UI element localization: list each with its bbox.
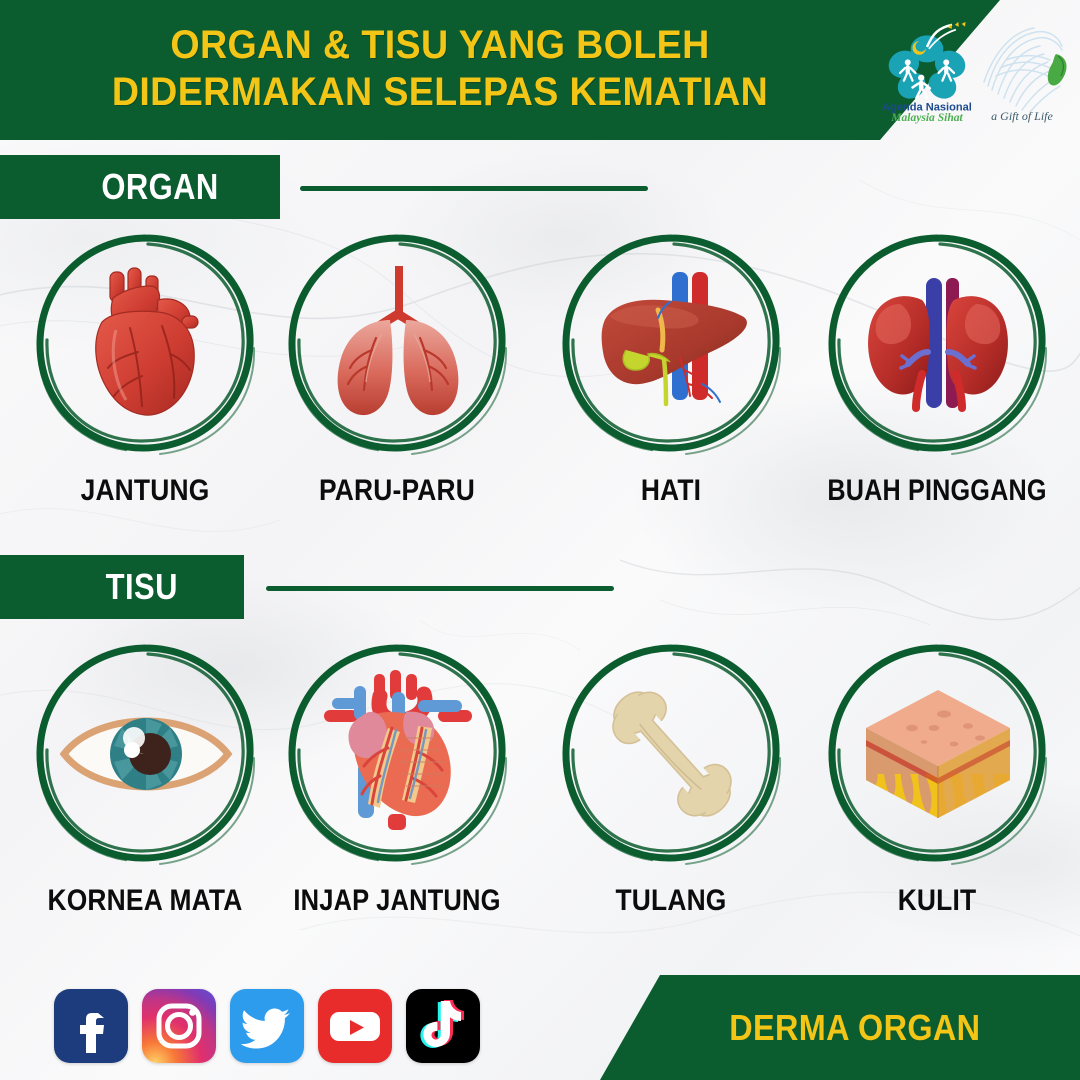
svg-text:Malaysia Sihat: Malaysia Sihat: [890, 112, 963, 124]
organ-grid: JANTUNG: [0, 228, 1080, 528]
footer: DERMA ORGAN: [0, 975, 1080, 1080]
bone-icon: [584, 666, 760, 842]
grid-item-kulit[interactable]: KULIT: [812, 638, 1062, 938]
footer-banner-label: DERMA ORGAN: [699, 1007, 981, 1049]
lungs-organ-icon: [310, 256, 486, 432]
logo-group: Agenda Nasional Malaysia Sihat: [874, 14, 1074, 130]
grid-item-label: BUAH PINGGANG: [817, 474, 1057, 508]
header: ORGAN & TISU YANG BOLEH DIDERMAKAN SELEP…: [0, 0, 1080, 140]
section-label-organ: ORGAN: [62, 166, 219, 208]
grid-item-label: KULIT: [811, 884, 1063, 918]
twitter-icon[interactable]: [230, 989, 304, 1063]
section-label-tisu: TISU: [66, 566, 178, 608]
skin-layers-icon: [850, 666, 1026, 842]
eye-cornea-icon: [58, 666, 234, 842]
twitter-glyph: [230, 989, 304, 1063]
kidneys-organ-icon: [850, 256, 1026, 432]
grid-item-buah-pinggang[interactable]: BUAH PINGGANG: [812, 228, 1062, 528]
liver-organ-icon: [584, 256, 760, 432]
tiktok-icon[interactable]: [406, 989, 480, 1063]
grid-item-jantung[interactable]: JANTUNG: [20, 228, 270, 528]
page-title-line1: ORGAN & TISU YANG BOLEH: [170, 23, 709, 67]
youtube-icon[interactable]: [318, 989, 392, 1063]
grid-item-label: INJAP JANTUNG: [275, 884, 518, 918]
instagram-glyph: [142, 989, 216, 1063]
grid-item-injap-jantung[interactable]: INJAP JANTUNG: [272, 638, 522, 938]
facebook-glyph: [54, 989, 128, 1063]
grid-item-label: TULANG: [545, 884, 797, 918]
grid-item-kornea-mata[interactable]: KORNEA MATA: [20, 638, 270, 938]
facebook-icon[interactable]: [54, 989, 128, 1063]
poster: ORGAN & TISU YANG BOLEH DIDERMAKAN SELEP…: [0, 0, 1080, 1080]
section-label-box-tisu: TISU: [0, 555, 244, 619]
grid-item-label: PARU-PARU: [271, 474, 523, 508]
grid-item-label: HATI: [545, 474, 797, 508]
a-gift-of-life-dove-logo: a Gift of Life: [970, 16, 1074, 128]
footer-banner: DERMA ORGAN: [600, 975, 1080, 1080]
grid-item-label: JANTUNG: [19, 474, 271, 508]
tisu-grid: KORNEA MATA: [0, 638, 1080, 938]
page-title: ORGAN & TISU YANG BOLEH DIDERMAKAN SELEP…: [26, 22, 853, 116]
instagram-icon[interactable]: [142, 989, 216, 1063]
section-rule-tisu: [266, 586, 614, 591]
section-label-box-organ: ORGAN: [0, 155, 280, 219]
svg-text:a Gift of Life: a Gift of Life: [991, 109, 1053, 123]
page-title-line2: DIDERMAKAN SELEPAS KEMATIAN: [26, 69, 853, 116]
grid-item-paru-paru[interactable]: PARU-PARU: [272, 228, 522, 528]
heart-valve-icon: [310, 666, 486, 842]
grid-item-label: KORNEA MATA: [19, 884, 271, 918]
grid-item-tulang[interactable]: TULANG: [546, 638, 796, 938]
tiktok-glyph: [406, 989, 480, 1063]
social-links: [54, 989, 480, 1063]
agenda-nasional-malaysia-sihat-logo: Agenda Nasional Malaysia Sihat: [878, 20, 976, 124]
heart-organ-icon: [58, 256, 234, 432]
grid-item-hati[interactable]: HATI: [546, 228, 796, 528]
section-rule-organ: [300, 186, 648, 191]
youtube-glyph: [318, 989, 392, 1063]
